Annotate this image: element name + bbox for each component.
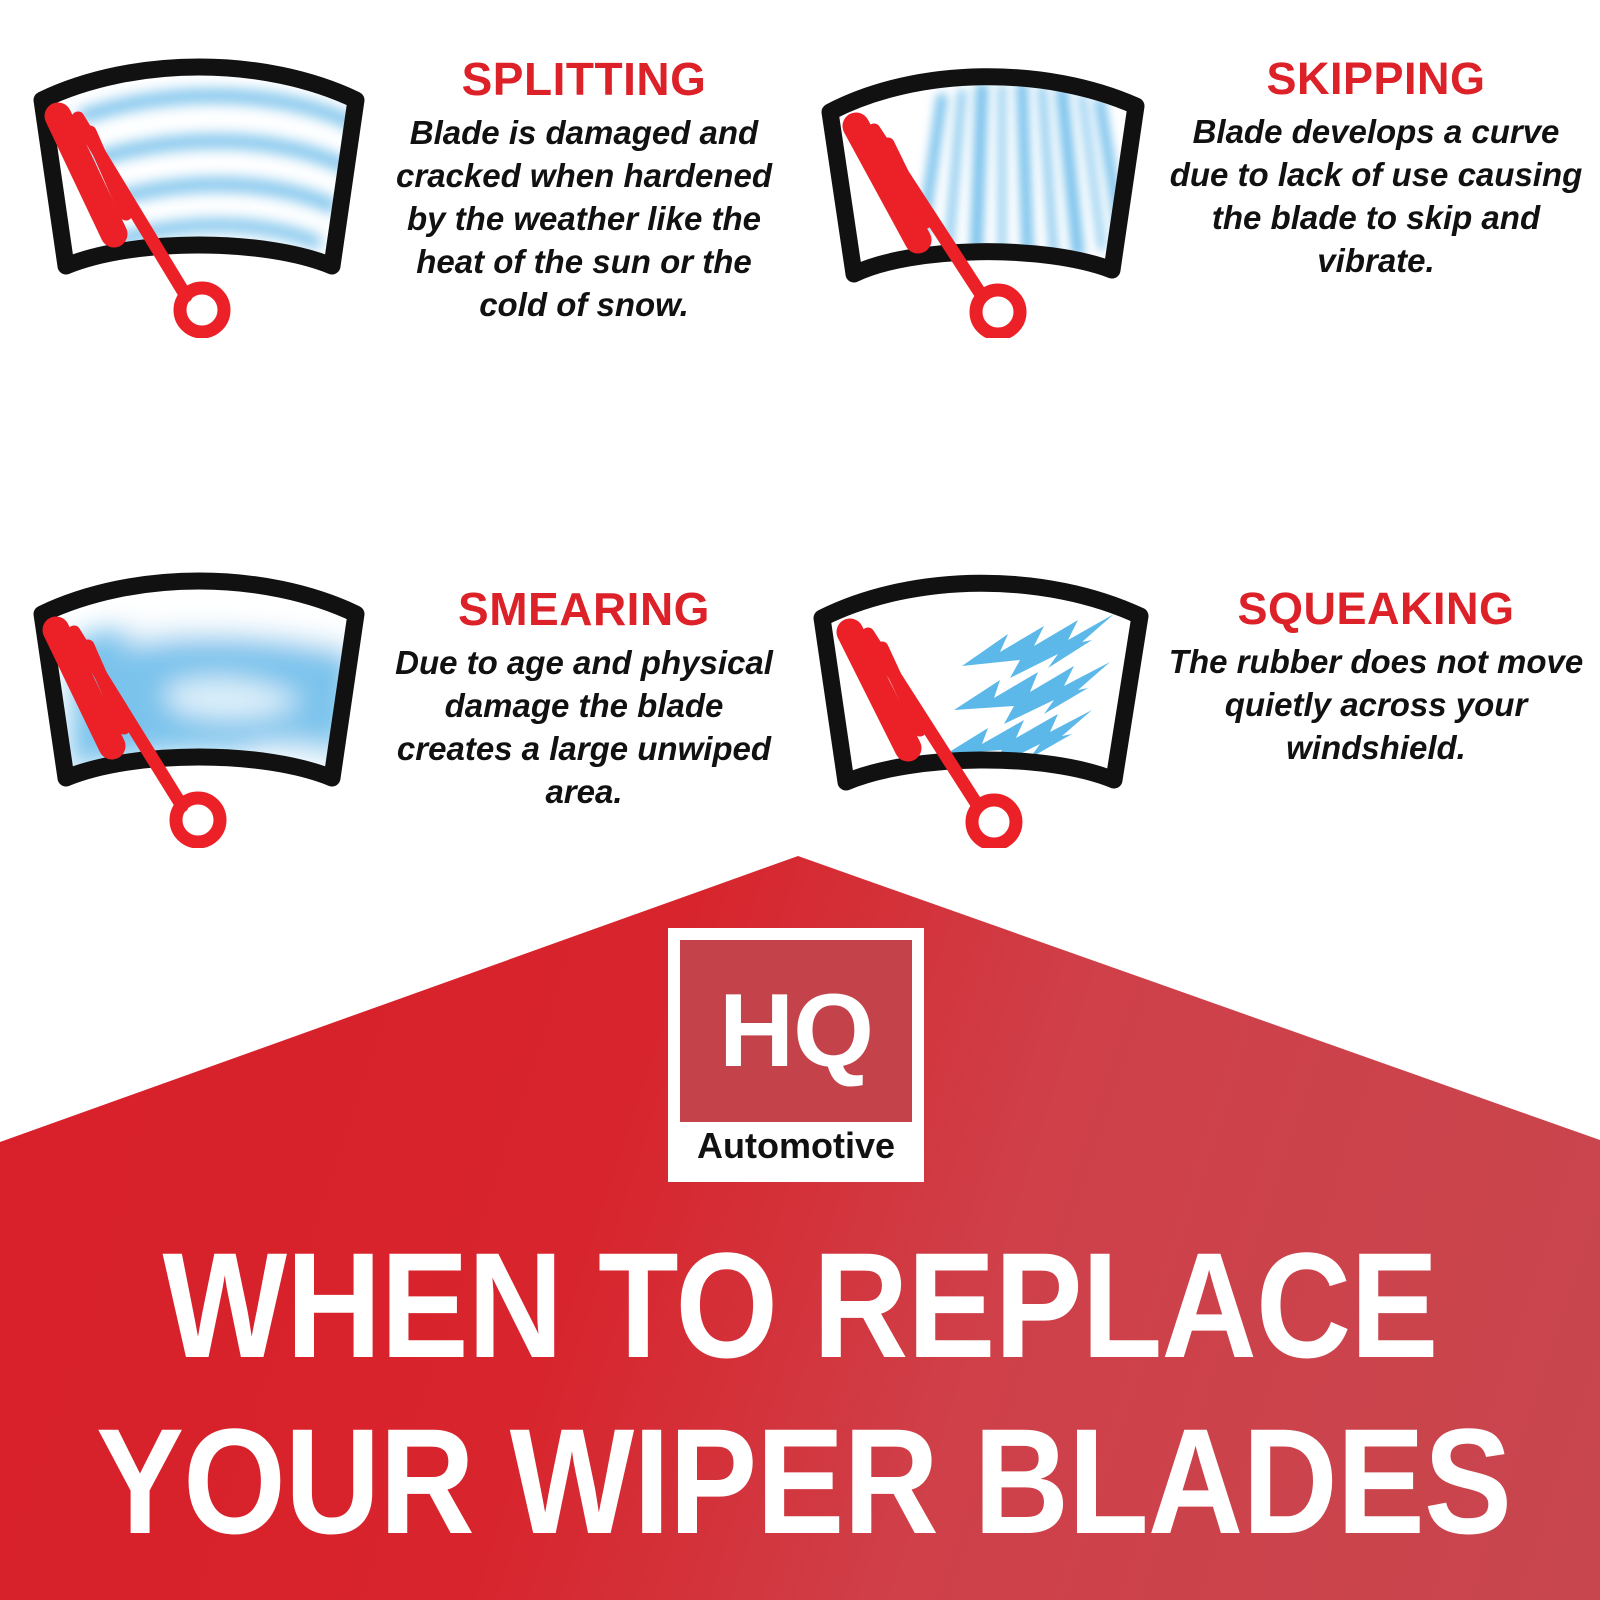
symptom-card-skipping: SKIPPING Blade develops a curve due to l… [796, 38, 1586, 338]
banner-headline: WHEN TO REPLACE YOUR WIPER BLADES [0, 1218, 1600, 1569]
symptom-card-squeaking: SQUEAKING The rubber does not move quiet… [796, 548, 1586, 848]
headline-line-2: YOUR WIPER BLADES [96, 1394, 1504, 1570]
wiper-zigzag-icon [796, 548, 1166, 848]
card-text-splitting: SPLITTING Blade is damaged and cracked w… [384, 38, 784, 326]
card-text-smearing: SMEARING Due to age and physical damage … [384, 548, 784, 814]
logo-subtitle-text: Automotive [697, 1128, 895, 1164]
wiper-smear-icon [14, 548, 384, 848]
headline-line-1: WHEN TO REPLACE [96, 1218, 1504, 1394]
infographic-page: SPLITTING Blade is damaged and cracked w… [0, 0, 1600, 1600]
card-text-skipping: SKIPPING Blade develops a curve due to l… [1166, 38, 1586, 283]
logo-subtitle-box: Automotive [680, 1122, 912, 1170]
hq-automotive-logo: HQ Automotive [668, 928, 924, 1182]
logo-mark-text: HQ [719, 979, 873, 1083]
card-title-smearing: SMEARING [384, 586, 784, 632]
wiper-streaks-icon [796, 38, 1166, 338]
card-title-splitting: SPLITTING [384, 56, 784, 102]
card-body-squeaking: The rubber does not move quietly across … [1166, 641, 1586, 770]
card-text-squeaking: SQUEAKING The rubber does not move quiet… [1166, 548, 1586, 770]
logo-mark-box: HQ [680, 940, 912, 1122]
wiper-arcs-icon [14, 38, 384, 338]
card-body-smearing: Due to age and physical damage the blade… [384, 642, 784, 814]
symptom-card-smearing: SMEARING Due to age and physical damage … [14, 548, 784, 848]
card-body-splitting: Blade is damaged and cracked when harden… [384, 112, 784, 326]
card-body-skipping: Blade develops a curve due to lack of us… [1166, 111, 1586, 283]
card-title-squeaking: SQUEAKING [1166, 586, 1586, 631]
card-title-skipping: SKIPPING [1166, 56, 1586, 101]
symptom-card-splitting: SPLITTING Blade is damaged and cracked w… [14, 38, 784, 338]
